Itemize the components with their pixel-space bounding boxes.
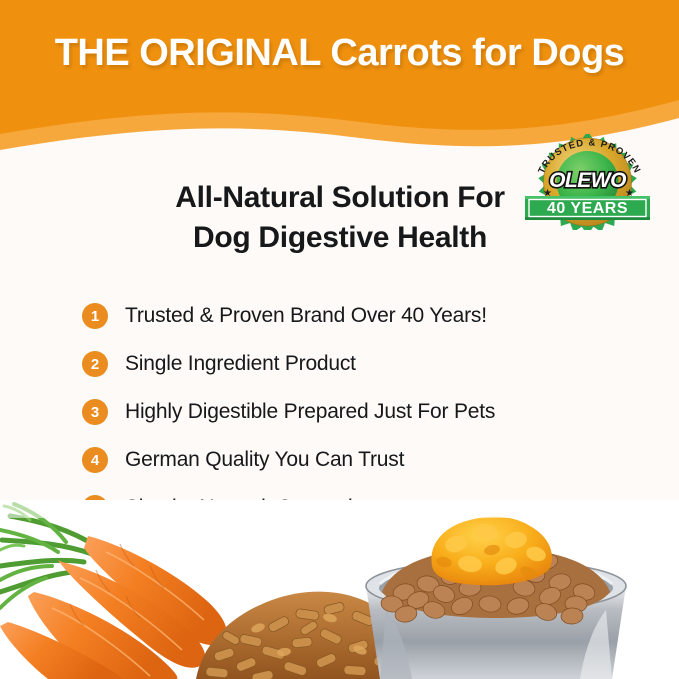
subheadline-line-1: All-Natural Solution For [60, 178, 620, 218]
title-strong: THE ORIGINAL [55, 32, 321, 74]
list-item: 4 German Quality You Can Trust [82, 436, 642, 484]
list-item-label: Single Ingredient Product [125, 352, 642, 376]
subheadline-line-2: Dog Digestive Health [60, 218, 620, 258]
list-item-number-badge: 3 [82, 399, 108, 425]
product-infographic: THE ORIGINAL Carrots for Dogs [0, 0, 679, 679]
photo-top-fade [0, 500, 679, 518]
list-item-label: Highly Digestible Prepared Just For Pets [125, 400, 642, 424]
title-rest: Carrots for Dogs [330, 32, 624, 74]
product-photo [0, 500, 679, 679]
list-item-number-badge: 2 [82, 351, 108, 377]
subheadline: All-Natural Solution For Dog Digestive H… [60, 178, 620, 257]
product-photo-illustration [0, 500, 679, 679]
list-item-number-badge: 4 [82, 447, 108, 473]
list-item: 3 Highly Digestible Prepared Just For Pe… [82, 388, 642, 436]
list-item-label: German Quality You Can Trust [125, 448, 642, 472]
list-item: 2 Single Ingredient Product [82, 340, 642, 388]
list-item-label: Trusted & Proven Brand Over 40 Years! [125, 304, 642, 328]
page-title: THE ORIGINAL Carrots for Dogs [0, 32, 679, 75]
list-item-number-badge: 1 [82, 303, 108, 329]
list-item: 1 Trusted & Proven Brand Over 40 Years! [82, 292, 642, 340]
benefits-list: 1 Trusted & Proven Brand Over 40 Years! … [82, 292, 642, 532]
